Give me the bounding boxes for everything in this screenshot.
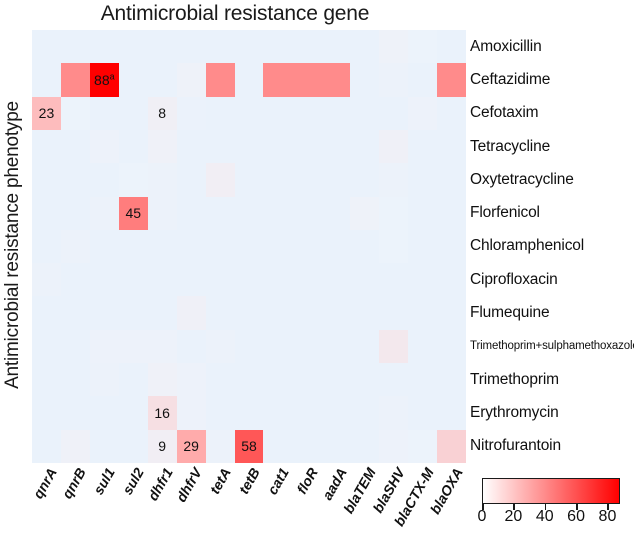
heatmap-cell [263, 430, 292, 463]
heatmap-cell [206, 230, 235, 263]
heatmap-cell-label: 88a [94, 73, 115, 87]
heatmap-cell [321, 330, 350, 363]
heatmap-cell [350, 263, 379, 296]
row-label-line: Trimethoprim [470, 340, 536, 352]
heatmap-cell [263, 130, 292, 163]
heatmap-cell [437, 63, 466, 96]
heatmap-cell [61, 230, 90, 263]
heatmap-cell [321, 230, 350, 263]
column-label-text: tetB [235, 465, 262, 497]
heatmap-cell [263, 263, 292, 296]
heatmap-cell [90, 230, 119, 263]
heatmap-cell [263, 197, 292, 230]
heatmap-cell [321, 363, 350, 396]
heatmap-cell [350, 230, 379, 263]
heatmap-cell [90, 330, 119, 363]
heatmap-cell [292, 97, 321, 130]
heatmap-cell [321, 30, 350, 63]
heatmap-cell [235, 296, 264, 329]
row-label-tetracycline: Tetracycline [470, 130, 634, 163]
heatmap-cell-label: 45 [125, 206, 141, 220]
heatmap-cell [350, 130, 379, 163]
heatmap-cell [177, 63, 206, 96]
heatmap-cell [408, 30, 437, 63]
column-label-dhfrv: dhfrV [177, 463, 206, 531]
heatmap-cell: 29 [177, 430, 206, 463]
heatmap-cell [148, 263, 177, 296]
heatmap-cell [292, 296, 321, 329]
heatmap-cell [437, 130, 466, 163]
heatmap-cell [350, 396, 379, 429]
heatmap-cell [321, 396, 350, 429]
heatmap-cell [148, 230, 177, 263]
heatmap-cell [32, 230, 61, 263]
heatmap-cell [263, 63, 292, 96]
heatmap-cell [437, 163, 466, 196]
heatmap-cell [437, 30, 466, 63]
heatmap-cell [235, 197, 264, 230]
heatmap-cell [379, 30, 408, 63]
heatmap-cell [148, 197, 177, 230]
heatmap-cell [32, 130, 61, 163]
heatmap-cell [32, 197, 61, 230]
column-label-text: cat1 [264, 465, 292, 497]
heatmap-cell [321, 63, 350, 96]
heatmap-cell [437, 363, 466, 396]
heatmap-cell [90, 97, 119, 130]
heatmap-cell [61, 63, 90, 96]
heatmap-cell [90, 197, 119, 230]
heatmap-cell [408, 230, 437, 263]
heatmap-cell [379, 263, 408, 296]
heatmap-cell [350, 363, 379, 396]
heatmap-cell [350, 30, 379, 63]
heatmap-cell [61, 330, 90, 363]
row-label-trimethoprim-sulphamethoxazole: Trimethoprim+sulphamethoxazole [470, 330, 634, 363]
heatmap-cell [177, 296, 206, 329]
heatmap-cell [90, 430, 119, 463]
heatmap-cell [177, 130, 206, 163]
heatmap-cell [119, 396, 148, 429]
heatmap-cell [292, 30, 321, 63]
heatmap-cell [408, 130, 437, 163]
column-label-text: sul1 [90, 465, 118, 497]
heatmap-cell [379, 97, 408, 130]
heatmap-cell [90, 163, 119, 196]
heatmap-cell [148, 363, 177, 396]
heatmap-cell [379, 197, 408, 230]
column-label-text: dhfrV [173, 465, 205, 505]
heatmap-cell: 23 [32, 97, 61, 130]
heatmap-cell: 45 [119, 197, 148, 230]
heatmap-cell [235, 97, 264, 130]
heatmap-cell [148, 330, 177, 363]
heatmap-cell [263, 296, 292, 329]
heatmap-cell [350, 296, 379, 329]
colorbar-tick-labels: 020406080 [470, 508, 634, 532]
column-label-sul2: sul2 [119, 463, 148, 531]
heatmap-cell [408, 330, 437, 363]
heatmap-cell [292, 163, 321, 196]
heatmap-figure: Antimicrobial resistance gene Antimicrob… [0, 0, 634, 534]
row-label-nitrofurantoin: Nitrofurantoin [470, 430, 634, 463]
heatmap-cell [263, 363, 292, 396]
colorbar-tick-label: 0 [478, 508, 487, 526]
heatmap-cell [177, 197, 206, 230]
heatmap-cell [206, 97, 235, 130]
column-label-tetb: tetB [235, 463, 264, 531]
heatmap-cell [292, 396, 321, 429]
heatmap-cell [177, 396, 206, 429]
row-label-line: +sulphamethoxazole [536, 340, 634, 352]
heatmap-cell-label: 58 [241, 439, 257, 453]
heatmap-cell [350, 97, 379, 130]
heatmap-cell [235, 263, 264, 296]
heatmap-cell [408, 430, 437, 463]
heatmap-cell [119, 263, 148, 296]
heatmap-cell [61, 97, 90, 130]
heatmap-cell [292, 63, 321, 96]
heatmap-cell [235, 130, 264, 163]
heatmap-cell [206, 163, 235, 196]
heatmap-cell [292, 130, 321, 163]
heatmap-cell: 58 [235, 430, 264, 463]
heatmap-cell [206, 197, 235, 230]
heatmap-cell [437, 330, 466, 363]
heatmap-cell [292, 330, 321, 363]
heatmap-cell [408, 396, 437, 429]
heatmap-cell: 8 [148, 97, 177, 130]
heatmap-cell [350, 63, 379, 96]
heatmap-cell-label: 8 [158, 106, 166, 120]
heatmap-cell [119, 330, 148, 363]
heatmap-cell [32, 330, 61, 363]
heatmap-cell [61, 363, 90, 396]
heatmap-cell [119, 30, 148, 63]
row-label-florfenicol: Florfenicol [470, 197, 634, 230]
heatmap-cell [379, 296, 408, 329]
heatmap-cell [263, 330, 292, 363]
colorbar-tick-label: 40 [536, 508, 554, 526]
row-label-ceftazidime: Ceftazidime [470, 63, 634, 96]
heatmap-cell [206, 330, 235, 363]
heatmap-cell-label: 9 [158, 439, 166, 453]
heatmap-cell [379, 396, 408, 429]
column-label-text: dhfr1 [145, 465, 176, 503]
heatmap-cell [148, 163, 177, 196]
heatmap-cell [119, 97, 148, 130]
column-label-qnrb: qnrB [61, 463, 90, 531]
column-label-text: qnrA [30, 465, 60, 501]
heatmap-cell [408, 163, 437, 196]
heatmap-cell [321, 163, 350, 196]
heatmap-cell [61, 263, 90, 296]
row-labels: AmoxicillinCeftazidimeCefotaximTetracycl… [470, 30, 634, 463]
heatmap-cell [206, 430, 235, 463]
heatmap-cell [235, 396, 264, 429]
heatmap-cell-label: 23 [39, 106, 55, 120]
heatmap-cell [61, 163, 90, 196]
heatmap-cell [350, 430, 379, 463]
heatmap-cell [32, 430, 61, 463]
heatmap-cell [32, 396, 61, 429]
heatmap-cell [437, 97, 466, 130]
heatmap-cell [61, 30, 90, 63]
row-label-amoxicillin: Amoxicillin [470, 30, 634, 63]
column-label-teta: tetA [206, 463, 235, 531]
heatmap-cell [235, 30, 264, 63]
heatmap-cell [235, 230, 264, 263]
heatmap-cell [437, 396, 466, 429]
heatmap-cell [177, 330, 206, 363]
heatmap-cell [437, 263, 466, 296]
heatmap-cell [321, 197, 350, 230]
row-label-chloramphenicol: Chloramphenicol [470, 230, 634, 263]
heatmap-cell [379, 363, 408, 396]
heatmap-cell [119, 63, 148, 96]
heatmap-cell [321, 263, 350, 296]
heatmap-cell [32, 163, 61, 196]
heatmap-cell [350, 330, 379, 363]
column-label-flor: floR [292, 463, 321, 531]
heatmap-cell [206, 363, 235, 396]
heatmap-cell [206, 63, 235, 96]
heatmap-cell [379, 230, 408, 263]
heatmap-cell [408, 263, 437, 296]
heatmap-cell [379, 63, 408, 96]
heatmap-cell [437, 430, 466, 463]
heatmap-cell [437, 296, 466, 329]
y-axis-title: Antimicrobial resistance phenotype [0, 30, 28, 460]
colorbar-tick-label: 60 [567, 508, 585, 526]
heatmap-cell [32, 63, 61, 96]
heatmap-cell [177, 363, 206, 396]
heatmap-cell [90, 296, 119, 329]
heatmap-grid: 88a238451692958 [32, 30, 466, 463]
column-label-qnra: qnrA [32, 463, 61, 531]
column-label-blaoxa: blaOXA [437, 463, 466, 531]
heatmap-cell [292, 430, 321, 463]
column-label-text: floR [293, 465, 320, 497]
heatmap-cell [32, 263, 61, 296]
heatmap-cell [177, 230, 206, 263]
heatmap-cell: 88a [90, 63, 119, 96]
heatmap-cell [321, 130, 350, 163]
heatmap-cell [119, 230, 148, 263]
colorbar-gradient [482, 478, 620, 504]
heatmap-cell [292, 263, 321, 296]
heatmap-cell [379, 130, 408, 163]
heatmap-cell [408, 63, 437, 96]
heatmap-cell [235, 163, 264, 196]
heatmap-cell [437, 197, 466, 230]
column-label-sul1: sul1 [90, 463, 119, 531]
row-label-trimethoprim: Trimethoprim [470, 363, 634, 396]
heatmap-cell [263, 163, 292, 196]
colorbar-tick-label: 20 [504, 508, 522, 526]
heatmap-cell-label: 16 [154, 406, 170, 420]
colorbar-tick-label: 80 [599, 508, 617, 526]
heatmap-cell [321, 97, 350, 130]
heatmap-cell [321, 296, 350, 329]
row-label-flumequine: Flumequine [470, 296, 634, 329]
row-label-oxytetracycline: Oxytetracycline [470, 163, 634, 196]
heatmap-cell [408, 97, 437, 130]
column-label-cat1: cat1 [263, 463, 292, 531]
heatmap-cell [119, 363, 148, 396]
heatmap-cell [206, 30, 235, 63]
heatmap-cell [61, 197, 90, 230]
heatmap-cell [379, 330, 408, 363]
heatmap-cell [408, 197, 437, 230]
heatmap-cell [263, 230, 292, 263]
heatmap-cell [61, 130, 90, 163]
heatmap-cell [379, 430, 408, 463]
heatmap-cell [408, 363, 437, 396]
heatmap-cell [90, 130, 119, 163]
row-label-erythromycin: Erythromycin [470, 396, 634, 429]
heatmap-cell [408, 296, 437, 329]
heatmap-cell [379, 163, 408, 196]
heatmap-cell [263, 396, 292, 429]
heatmap-cell [235, 330, 264, 363]
heatmap-cell [119, 296, 148, 329]
heatmap-cell [292, 230, 321, 263]
heatmap-cell [61, 296, 90, 329]
heatmap-cell [90, 396, 119, 429]
column-label-text: sul2 [119, 465, 147, 497]
heatmap-cell: 16 [148, 396, 177, 429]
heatmap-cell [32, 30, 61, 63]
page-title: Antimicrobial resistance gene [0, 2, 470, 26]
heatmap-cell [148, 130, 177, 163]
heatmap-cell [177, 263, 206, 296]
heatmap-cell: 9 [148, 430, 177, 463]
heatmap-cell [263, 97, 292, 130]
heatmap-cell [292, 363, 321, 396]
heatmap-cell [437, 230, 466, 263]
heatmap-cell [350, 163, 379, 196]
heatmap-cell [119, 163, 148, 196]
heatmap-cell [148, 30, 177, 63]
heatmap-cell [321, 430, 350, 463]
heatmap-cell [90, 363, 119, 396]
heatmap-cell [148, 63, 177, 96]
heatmap-cell [148, 296, 177, 329]
heatmap-cell-superscript: a [110, 71, 115, 81]
heatmap-cell [61, 430, 90, 463]
heatmap-cell [206, 263, 235, 296]
heatmap-cell [90, 263, 119, 296]
heatmap-cell-label: 29 [183, 439, 199, 453]
heatmap-cell [235, 63, 264, 96]
heatmap-cell [177, 97, 206, 130]
heatmap-cell [292, 197, 321, 230]
heatmap-cell [206, 296, 235, 329]
column-label-text: qnrB [59, 465, 89, 501]
heatmap-cell [263, 30, 292, 63]
heatmap-cell [119, 130, 148, 163]
column-label-text: tetA [206, 465, 233, 497]
heatmap-cell [32, 363, 61, 396]
y-axis-title-text: Antimicrobial resistance phenotype [2, 101, 24, 389]
heatmap-cell [350, 197, 379, 230]
column-labels: qnrAqnrBsul1sul2dhfr1dhfrVtetAtetBcat1fl… [32, 463, 466, 531]
row-label-cefotaxim: Cefotaxim [470, 97, 634, 130]
heatmap-cell [206, 130, 235, 163]
row-label-ciprofloxacin: Ciprofloxacin [470, 263, 634, 296]
heatmap-cell [119, 430, 148, 463]
heatmap-cell [235, 363, 264, 396]
heatmap-cell [177, 30, 206, 63]
heatmap-cell [32, 296, 61, 329]
heatmap-cell [61, 396, 90, 429]
heatmap-cell [177, 163, 206, 196]
heatmap-cell [90, 30, 119, 63]
heatmap-cell [206, 396, 235, 429]
